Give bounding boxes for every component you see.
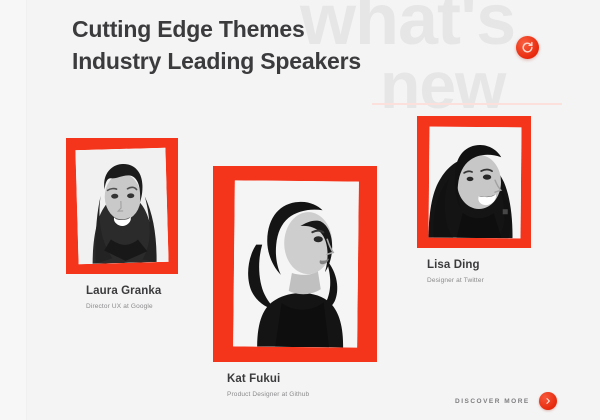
refresh-icon — [521, 41, 534, 54]
page-title: Cutting Edge Themes Industry Leading Spe… — [72, 14, 361, 77]
headline-line-1: Cutting Edge Themes — [72, 14, 361, 46]
headline-line-2: Industry Leading Speakers — [72, 46, 361, 78]
speaker-role: Designer at Twitter — [427, 277, 531, 284]
watermark-line-2: new — [380, 52, 505, 118]
discover-more-label: DISCOVER MORE — [455, 398, 530, 405]
portrait-kat-fukui — [233, 180, 359, 347]
speaker-role: Director UX at Google — [86, 303, 178, 310]
speaker-photo — [233, 180, 359, 347]
portrait-laura-granka — [75, 148, 168, 264]
photo-frame — [66, 138, 178, 274]
discover-more-arrow-button[interactable] — [539, 392, 557, 410]
slide-canvas: what's new Cutting Edge Themes Industry … — [0, 0, 600, 420]
portrait-lisa-ding — [429, 127, 522, 239]
chevron-right-icon — [544, 392, 552, 410]
speaker-name: Laura Granka — [86, 285, 178, 297]
discover-more-button[interactable]: DISCOVER MORE — [455, 392, 557, 410]
left-edge-panel — [0, 0, 26, 420]
speaker-photo — [429, 127, 522, 239]
left-edge-divider — [26, 0, 27, 420]
speaker-card-lisa-ding[interactable]: Lisa Ding Designer at Twitter — [417, 116, 531, 284]
speaker-name: Lisa Ding — [427, 259, 531, 271]
speaker-photo — [75, 148, 168, 264]
speaker-card-laura-granka[interactable]: Laura Granka Director UX at Google — [66, 138, 178, 310]
speaker-card-kat-fukui[interactable]: Kat Fukui Product Designer at Github — [213, 166, 377, 398]
refresh-button[interactable] — [516, 36, 539, 59]
photo-frame — [213, 166, 377, 362]
speaker-role: Product Designer at Github — [227, 391, 377, 398]
watermark-underline — [372, 103, 562, 105]
speaker-name: Kat Fukui — [227, 373, 377, 385]
photo-frame — [417, 116, 531, 248]
